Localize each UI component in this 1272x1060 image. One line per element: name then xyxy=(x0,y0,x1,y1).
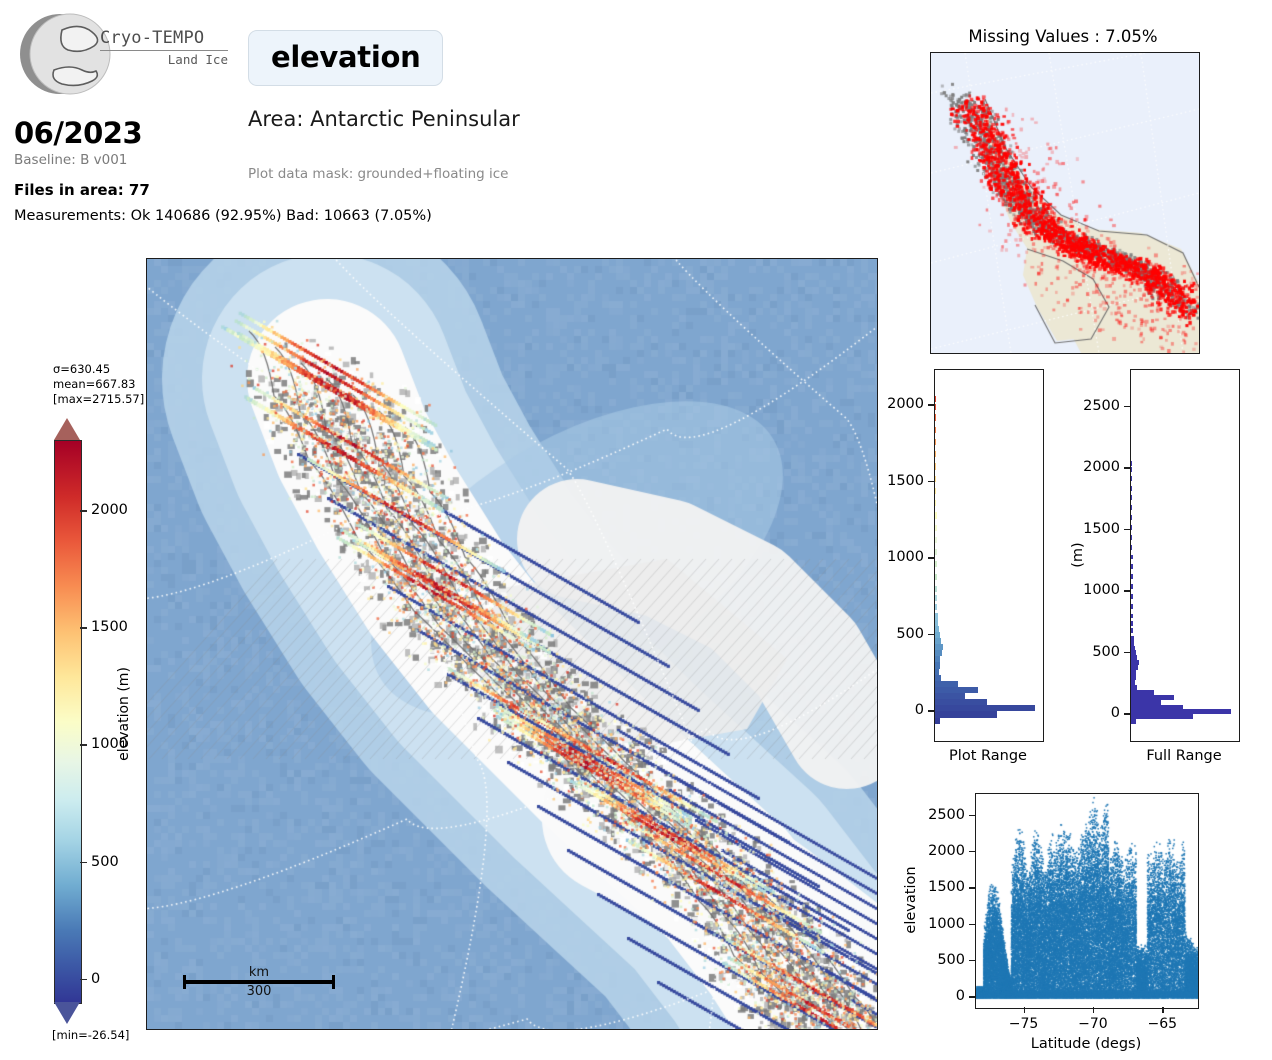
scale-value: 300 xyxy=(183,984,335,999)
histogram-bar xyxy=(935,681,958,687)
histogram-bar xyxy=(1131,660,1139,665)
elevation-colorbar: 0500100015002000 elevation (m) [min=-26.… xyxy=(54,418,146,1028)
histogram-bar xyxy=(1131,467,1132,472)
axis-tick-label: 0 xyxy=(909,988,965,1004)
histogram-bar xyxy=(1131,574,1133,579)
histogram-bar xyxy=(935,512,937,518)
histogram-bar xyxy=(935,718,940,724)
scatter-ylabel: elevation xyxy=(903,866,919,933)
histogram-bar xyxy=(935,644,943,650)
missing-values-title: Missing Values : 7.05% xyxy=(968,27,1157,46)
colorbar-tick xyxy=(80,510,87,512)
histogram-bar xyxy=(935,662,940,668)
histogram-bar xyxy=(935,561,937,567)
brand-subtitle: Land Ice xyxy=(100,54,228,67)
histogram-bar xyxy=(935,699,987,705)
axis-tick-label: 500 xyxy=(1062,644,1120,660)
histogram-bar xyxy=(935,656,940,662)
histogram-bar xyxy=(935,427,936,433)
colorbar-under-arrow xyxy=(54,1002,80,1024)
scatter-points xyxy=(976,794,1198,1008)
axis-tick-label: 500 xyxy=(909,952,965,968)
histogram-bar xyxy=(935,669,939,675)
histogram-bar xyxy=(935,549,937,555)
histogram-bar xyxy=(1131,535,1132,540)
histogram-bar xyxy=(1131,650,1136,655)
missing-values-map[interactable] xyxy=(930,52,1200,354)
histogram-bar xyxy=(935,396,936,402)
area-label: Area: Antarctic Peninsular xyxy=(248,107,520,131)
axis-tick xyxy=(969,960,975,961)
histogram-bar xyxy=(935,488,936,494)
histogram-bar xyxy=(1131,709,1231,714)
brand-divider xyxy=(100,50,228,51)
axis-tick xyxy=(928,404,934,405)
colorbar-tick xyxy=(80,627,87,629)
full-range-bars xyxy=(1131,370,1239,741)
histogram-bar xyxy=(935,613,938,619)
axis-tick xyxy=(969,851,975,852)
histogram-bar xyxy=(1131,594,1133,599)
histogram-bar xyxy=(1131,680,1135,685)
histogram-bar xyxy=(1131,690,1154,695)
histogram-bar xyxy=(1131,655,1137,660)
axis-tick-label: 0 xyxy=(1062,705,1120,721)
axis-tick-label: 1000 xyxy=(1062,582,1120,598)
axis-tick xyxy=(1124,590,1130,591)
colorbar-tick xyxy=(80,979,87,981)
axis-tick-label: 2000 xyxy=(1062,459,1120,475)
plot-range-histogram xyxy=(934,369,1044,742)
colorbar-tick-label: 500 xyxy=(91,854,119,870)
histogram-bar xyxy=(935,620,938,626)
axis-tick-label: −75 xyxy=(1009,1016,1039,1032)
histogram-bar xyxy=(1131,675,1136,680)
axis-tick xyxy=(1124,713,1130,714)
histogram-bar xyxy=(1131,555,1133,560)
stat-mean: mean=667.83 xyxy=(53,377,144,392)
date-label: 06/2023 xyxy=(14,116,142,150)
colorbar-tick xyxy=(80,862,87,864)
colorbar-gradient xyxy=(54,440,82,1004)
histogram-bar xyxy=(1131,476,1132,481)
histogram-bar xyxy=(1131,584,1133,589)
histogram-bar xyxy=(935,711,997,717)
histogram-bar xyxy=(935,687,978,693)
histogram-bar xyxy=(1131,495,1132,500)
colorbar-tick-label: 1500 xyxy=(91,619,128,635)
axis-tick xyxy=(969,924,975,925)
histogram-bar xyxy=(935,525,937,531)
axis-tick-label: 2000 xyxy=(909,843,965,859)
histogram-bar xyxy=(1131,695,1174,700)
histogram-bar xyxy=(935,638,941,644)
colorbar-tick xyxy=(80,744,87,746)
main-elevation-map[interactable]: 55°W70°S74°S km 300 xyxy=(146,258,878,1030)
axis-tick xyxy=(928,634,934,635)
axis-tick xyxy=(928,481,934,482)
axis-tick xyxy=(1162,1007,1163,1013)
full-range-histogram xyxy=(1130,369,1240,742)
histogram-bar xyxy=(935,574,937,580)
histogram-bar xyxy=(1131,545,1132,550)
axis-tick-label: 0 xyxy=(866,702,924,718)
histogram-bar xyxy=(935,626,939,632)
histogram-bar xyxy=(935,537,937,543)
elevation-latitude-scatter[interactable] xyxy=(975,793,1199,1009)
histogram-bar xyxy=(1131,670,1136,675)
axis-tick xyxy=(1093,1007,1094,1013)
axis-tick xyxy=(969,996,975,997)
histogram-bar xyxy=(935,586,937,592)
scale-unit: km xyxy=(183,965,335,980)
axis-tick xyxy=(1024,1007,1025,1013)
histogram-bar xyxy=(1131,665,1138,670)
histogram-bar xyxy=(1131,505,1132,510)
axis-tick xyxy=(1124,652,1130,653)
histogram-bar xyxy=(1131,515,1132,520)
plot-range-xlabel: Plot Range xyxy=(949,748,1027,764)
plot-range-bars xyxy=(935,370,1043,741)
axis-tick-label: 1000 xyxy=(866,549,924,565)
histogram-bar xyxy=(935,650,942,656)
axis-tick-label: 1500 xyxy=(1062,521,1120,537)
brand-title: Cryo-TEMPO xyxy=(100,30,230,47)
measurements-label: Measurements: Ok 140686 (92.95%) Bad: 10… xyxy=(14,208,432,224)
colorbar-stats: σ=630.45 mean=667.83 [max=2715.57] xyxy=(53,362,144,407)
histogram-bar xyxy=(935,693,965,699)
histogram-bar xyxy=(1131,685,1137,690)
colorbar-tick-label: 2000 xyxy=(91,502,128,518)
histogram-bar xyxy=(935,404,936,410)
axis-tick-label: 2000 xyxy=(866,396,924,412)
histogram-bar xyxy=(1131,719,1136,724)
histogram-bar xyxy=(1131,628,1133,633)
histogram-bar xyxy=(1131,646,1135,651)
axis-tick-label: 2500 xyxy=(909,807,965,823)
histogram-bar xyxy=(1131,714,1193,719)
axis-tick-label: 1500 xyxy=(866,473,924,489)
histogram-bar xyxy=(1131,700,1161,705)
axis-tick xyxy=(1124,406,1130,407)
axis-tick-label: 500 xyxy=(866,626,924,642)
stat-sigma: σ=630.45 xyxy=(53,362,144,377)
histogram-bar xyxy=(1131,705,1183,710)
parameter-title-badge: elevation xyxy=(248,30,443,86)
histogram-bar xyxy=(935,414,936,420)
full-range-ylabel: (m) xyxy=(1070,542,1086,567)
histogram-bar xyxy=(935,476,936,482)
histogram-bar xyxy=(935,705,1035,711)
histogram-bar xyxy=(1131,641,1134,646)
map-raster xyxy=(147,259,877,1029)
axis-tick-label: 2500 xyxy=(1062,398,1120,414)
baseline-label: Baseline: B v001 xyxy=(14,152,127,168)
full-range-xlabel: Full Range xyxy=(1146,748,1221,764)
colorbar-tick-label: 0 xyxy=(91,971,100,987)
histogram-bar xyxy=(1131,636,1134,641)
histogram-bar xyxy=(1131,525,1132,530)
plot-data-mask-label: Plot data mask: grounded+floating ice xyxy=(248,166,508,182)
axis-tick xyxy=(1124,529,1130,530)
histogram-bar xyxy=(1131,604,1133,609)
histogram-bar xyxy=(1131,461,1132,466)
colorbar-over-arrow xyxy=(54,418,80,440)
axis-tick xyxy=(969,815,975,816)
axis-tick xyxy=(1124,467,1130,468)
histogram-bar xyxy=(935,675,941,681)
histogram-bar xyxy=(935,500,936,506)
brand-text: Cryo-TEMPO Land Ice xyxy=(100,30,230,67)
files-in-area-label: Files in area: 77 xyxy=(14,181,150,199)
histogram-bar xyxy=(935,439,936,445)
histogram-bar xyxy=(935,632,940,638)
histogram-bar xyxy=(935,604,937,610)
map-scale-bar: km 300 xyxy=(183,965,335,999)
missing-values-raster xyxy=(931,53,1199,353)
axis-tick xyxy=(928,557,934,558)
histogram-bar xyxy=(1131,614,1133,619)
stat-max: [max=2715.57] xyxy=(53,392,144,407)
histogram-bar xyxy=(1131,564,1133,569)
histogram-bar xyxy=(935,463,936,469)
histogram-bar xyxy=(935,451,936,457)
stat-min: [min=-26.54] xyxy=(52,1028,129,1042)
colorbar-axis-label: elevation (m) xyxy=(116,667,132,761)
parameter-title: elevation xyxy=(271,40,420,74)
scale-bar-line xyxy=(183,980,335,984)
axis-tick xyxy=(928,710,934,711)
axis-tick xyxy=(969,887,975,888)
histogram-bar xyxy=(1131,621,1133,626)
histogram-bar xyxy=(1131,486,1132,491)
axis-tick-label: −70 xyxy=(1078,1016,1108,1032)
histogram-bar xyxy=(935,595,937,601)
scatter-xlabel: Latitude (degs) xyxy=(1031,1036,1142,1052)
axis-tick-label: −65 xyxy=(1148,1016,1178,1032)
